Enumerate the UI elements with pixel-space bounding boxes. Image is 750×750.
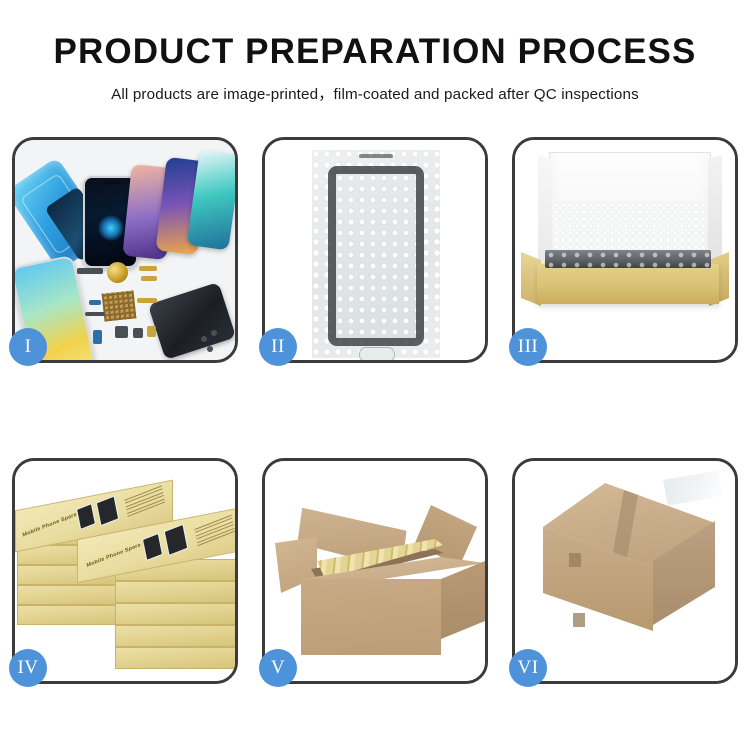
earpiece-icon [359, 154, 393, 158]
copper-coil-icon [107, 262, 128, 283]
connector-grid-icon [102, 290, 137, 321]
part-chip-icon [133, 328, 143, 338]
step-badge-4: IV [9, 649, 47, 687]
part-blue-icon [93, 330, 102, 344]
step-badge-5: V [259, 649, 297, 687]
screw-icon [201, 336, 207, 342]
stacked-box [17, 605, 119, 625]
home-button-icon [359, 347, 395, 360]
phone-back-housing-icon [148, 282, 235, 360]
carton-seam-icon [573, 613, 585, 627]
step-6-image [515, 461, 735, 681]
box-spec-lines [124, 485, 165, 519]
step-badge-3: III [509, 328, 547, 366]
part-gold-icon [137, 298, 157, 303]
bubble-wrapped-screen-illustration [265, 140, 485, 360]
stacked-box [17, 585, 119, 605]
step-5-image [265, 461, 485, 681]
box-spec-lines [194, 515, 235, 549]
process-step-panel-2: II [262, 137, 488, 363]
step-badge-1: I [9, 328, 47, 366]
process-step-grid: I II III [12, 137, 738, 684]
box-screen-graphic [96, 495, 119, 526]
screw-icon [207, 346, 213, 352]
carton-side-icon [441, 561, 485, 639]
step-4-image: Mobile Phone Spare Parts Mobile Phone Sp… [15, 461, 235, 681]
box-stack: Mobile Phone Spare Parts Mobile Phone Sp… [15, 461, 235, 681]
stacked-box [115, 603, 235, 625]
bubble-wrap-icon [312, 150, 440, 358]
carton-filled-with-boxes-illustration [265, 461, 485, 681]
page-subtitle: All products are image-printed，film-coat… [0, 82, 750, 104]
sealed-carton-illustration [515, 461, 735, 681]
foam-lined-box-illustration [515, 140, 735, 360]
kraft-tray-icon [537, 264, 719, 304]
step-badge-2: II [259, 328, 297, 366]
carton-seam-icon [569, 553, 581, 567]
notch-icon [103, 181, 119, 184]
phones-and-spare-parts-illustration [15, 140, 235, 360]
page-header: PRODUCT PREPARATION PROCESS All products… [0, 0, 750, 104]
process-step-panel-3: III [512, 137, 738, 363]
process-step-panel-5: V [262, 458, 488, 684]
box-screen-graphic [76, 503, 96, 530]
screen-glass-icon [328, 166, 424, 346]
step-1-image [15, 140, 235, 360]
step-2-image [265, 140, 485, 360]
page-title: PRODUCT PREPARATION PROCESS [0, 34, 750, 71]
box-screen-graphic [164, 524, 189, 556]
box-screen-graphic [142, 533, 163, 561]
stacked-retail-boxes-illustration: Mobile Phone Spare Parts Mobile Phone Sp… [15, 461, 235, 681]
part-strip-icon [85, 312, 105, 316]
stacked-box [115, 581, 235, 603]
carton-front-icon [301, 579, 441, 655]
part-gold-icon [141, 276, 157, 281]
stacked-box [115, 647, 235, 669]
part-strip-icon [77, 268, 103, 274]
part-blue-icon [89, 300, 101, 305]
process-step-panel-4: Mobile Phone Spare Parts Mobile Phone Sp… [12, 458, 238, 684]
step-3-image [515, 140, 735, 360]
stacked-box [115, 625, 235, 647]
part-gold-icon [139, 266, 157, 271]
process-step-panel-6: VI [512, 458, 738, 684]
part-chip-icon [115, 326, 128, 338]
part-gold-icon [147, 326, 156, 337]
process-step-panel-1: I [12, 137, 238, 363]
backdrop-highlight [663, 470, 723, 505]
step-badge-6: VI [509, 649, 547, 687]
screw-icon [211, 330, 217, 336]
